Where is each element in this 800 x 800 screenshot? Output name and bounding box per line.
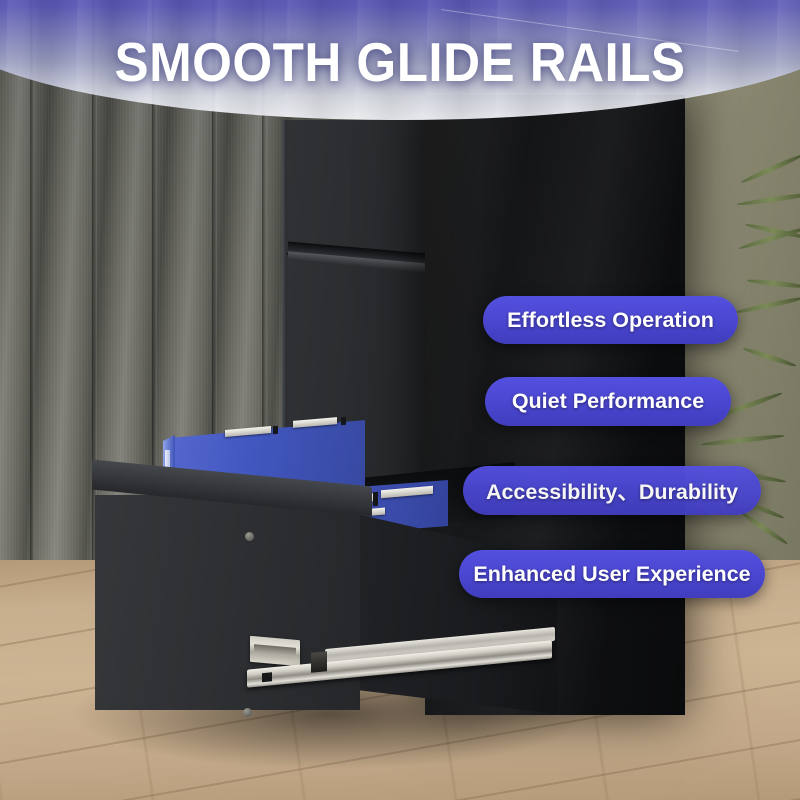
feature-badge-accessibility-durability[interactable]: Accessibility、Durability xyxy=(463,466,761,515)
feature-badge-quiet-performance[interactable]: Quiet Performance xyxy=(485,377,731,426)
product-marketing-image: SMOOTH GLIDE RAILS Effortless Operation … xyxy=(0,0,800,800)
feature-badge-effortless-operation[interactable]: Effortless Operation xyxy=(483,296,738,344)
feature-badge-enhanced-user-experience[interactable]: Enhanced User Experience xyxy=(459,550,765,598)
feature-badge-list: Effortless Operation Quiet Performance A… xyxy=(0,0,800,800)
